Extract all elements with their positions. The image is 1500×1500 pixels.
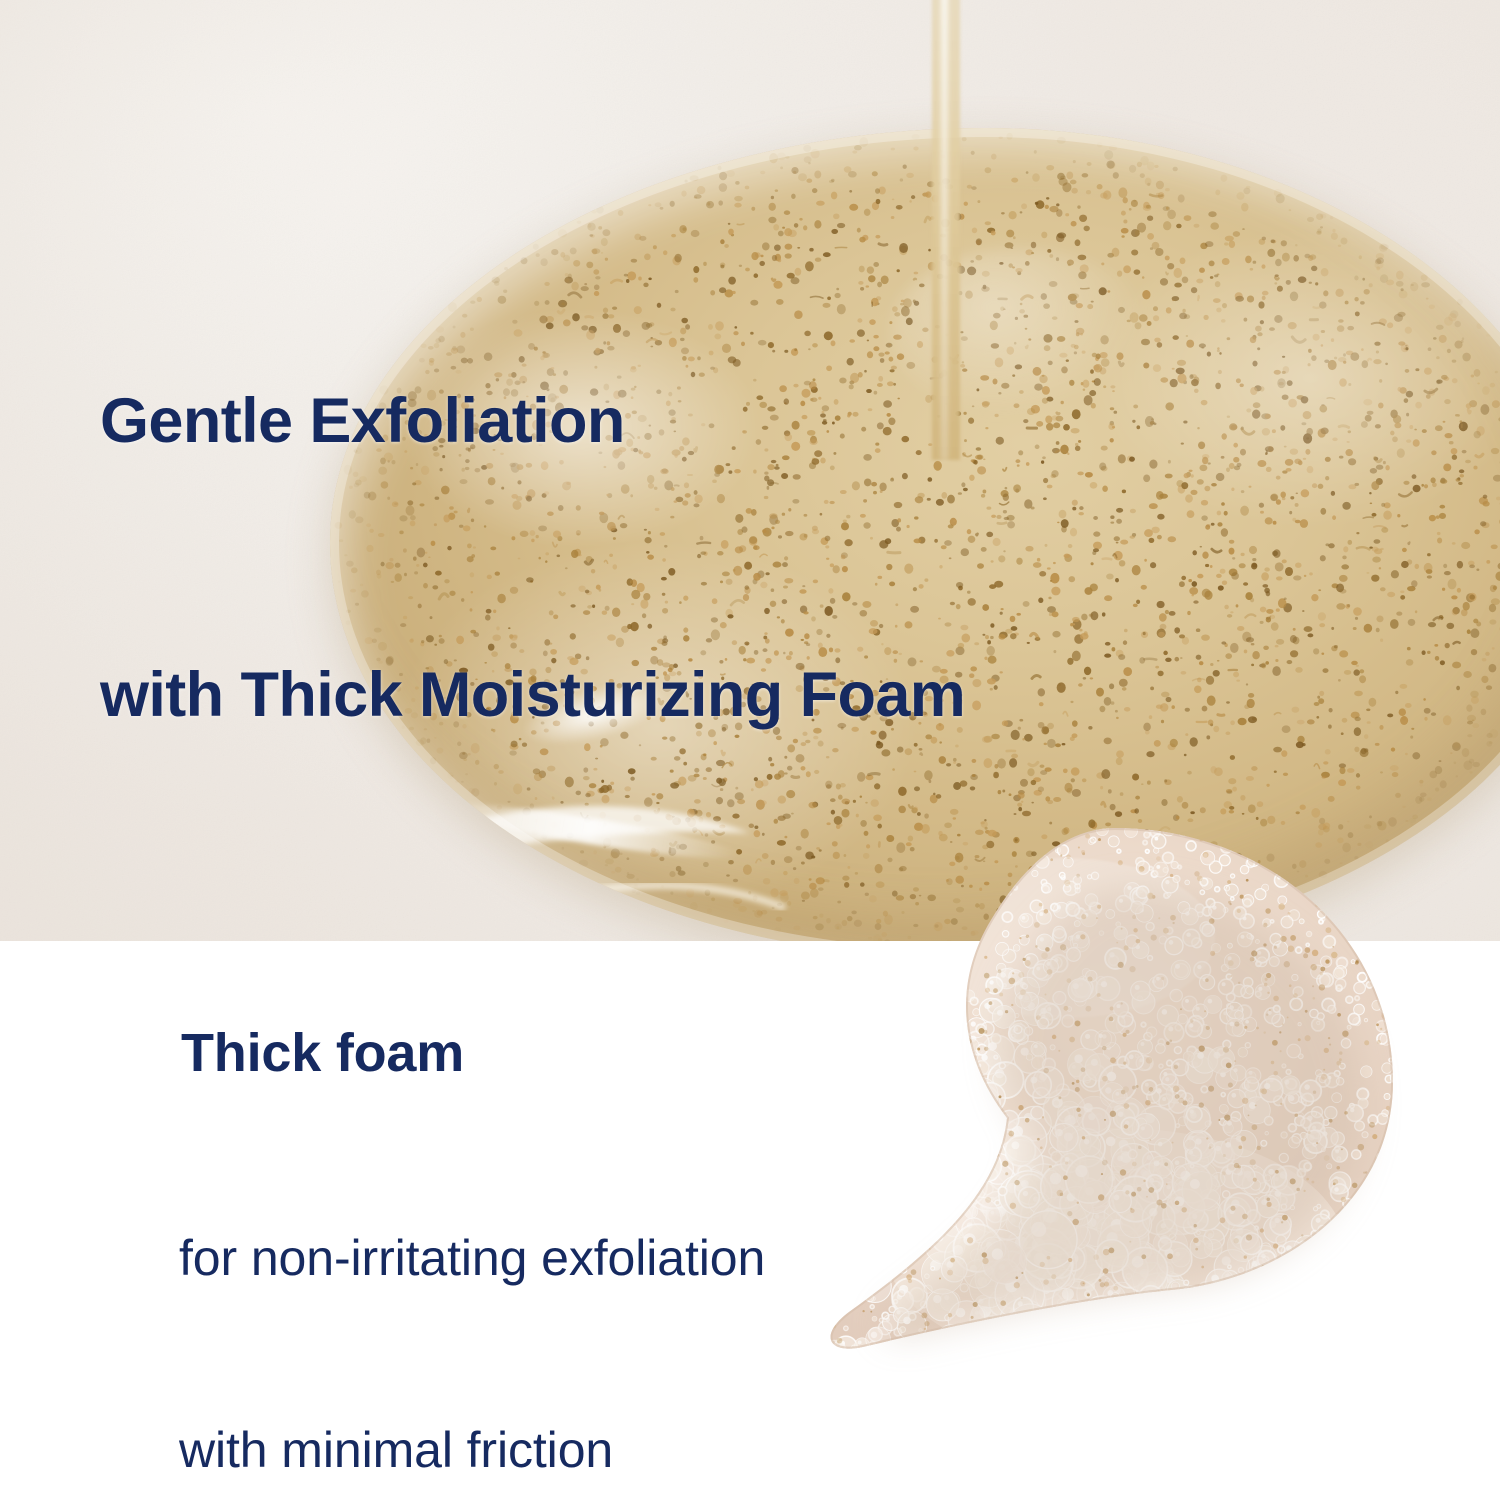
foam-drop-shadow	[855, 878, 1395, 1348]
benefit-body-line-2: with minimal friction	[179, 1418, 765, 1482]
product-feature-image: Gentle Exfoliation with Thick Moisturizi…	[0, 0, 1500, 1500]
headline-line-1: Gentle Exfoliation	[100, 376, 965, 467]
headline: Gentle Exfoliation with Thick Moisturizi…	[100, 193, 965, 924]
benefit-title: Thick foam	[181, 1026, 464, 1080]
benefit-body: for non-irritating exfoliation with mini…	[179, 1098, 765, 1500]
benefit-body-line-1: for non-irritating exfoliation	[179, 1226, 765, 1290]
headline-line-2: with Thick Moisturizing Foam	[100, 650, 965, 741]
